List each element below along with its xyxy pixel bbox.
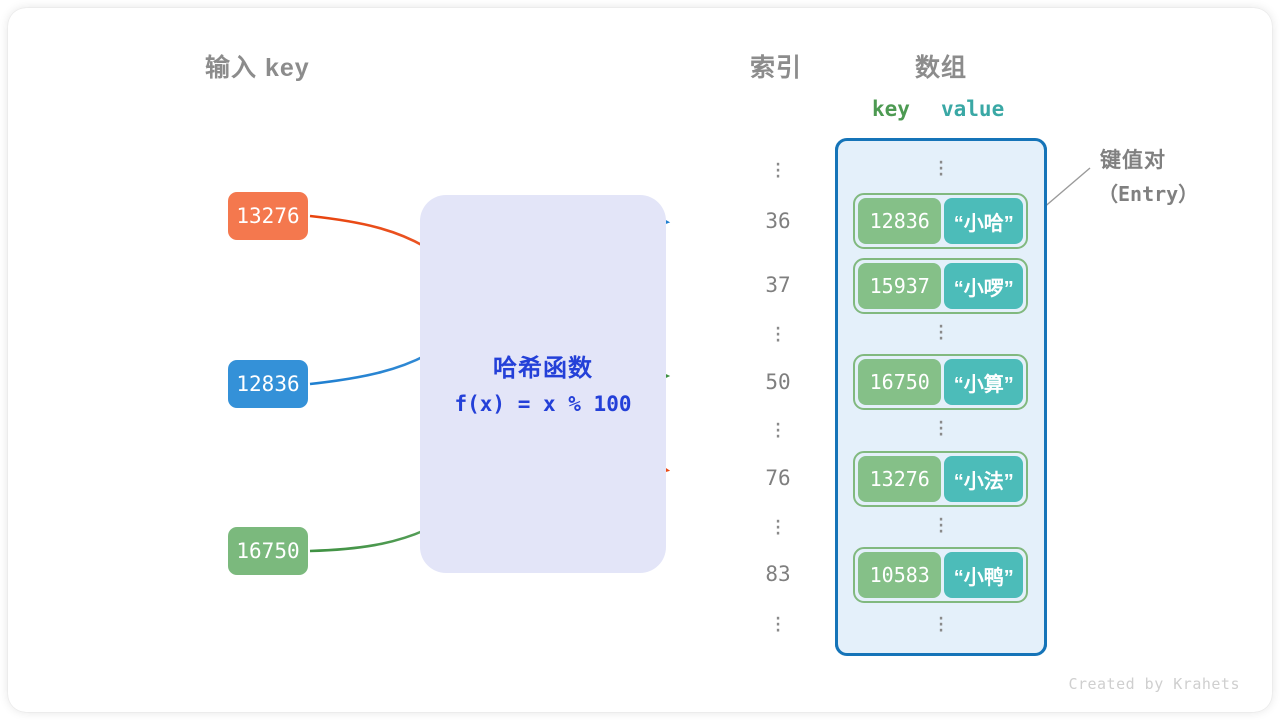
index-label-83: 83 bbox=[748, 562, 808, 586]
entry-row[interactable]: 12836 “小哈” bbox=[853, 193, 1028, 249]
credit-text: Created by Krahets bbox=[1068, 675, 1240, 693]
entry-annotation-label: 键值对 bbox=[1100, 144, 1166, 174]
entry-annotation-sublabel: （Entry） bbox=[1098, 178, 1198, 207]
entry-value: “小哈” bbox=[944, 198, 1023, 244]
entry-key: 15937 bbox=[858, 263, 941, 309]
index-label-36: 36 bbox=[748, 209, 808, 233]
column-sublabel-value: value bbox=[941, 97, 1004, 121]
input-key-value: 12836 bbox=[236, 372, 299, 396]
entry-key: 13276 bbox=[858, 456, 941, 502]
entry-key: 10583 bbox=[858, 552, 941, 598]
input-key-chip-16750[interactable]: 16750 bbox=[228, 527, 308, 575]
index-ellipsis: ··· bbox=[748, 614, 808, 632]
array-ellipsis: ··· bbox=[911, 418, 971, 436]
entry-row[interactable]: 15937 “小啰” bbox=[853, 258, 1028, 314]
index-ellipsis: ··· bbox=[748, 324, 808, 342]
entry-value: “小算” bbox=[944, 359, 1023, 405]
index-label-50: 50 bbox=[748, 370, 808, 394]
entry-row[interactable]: 10583 “小鸭” bbox=[853, 547, 1028, 603]
array-ellipsis: ··· bbox=[911, 614, 971, 632]
index-ellipsis: ··· bbox=[748, 160, 808, 178]
column-sublabel-key: key bbox=[872, 97, 910, 121]
hash-function-title: 哈希函数 bbox=[420, 348, 666, 383]
input-key-value: 13276 bbox=[236, 204, 299, 228]
entry-value: “小啰” bbox=[944, 263, 1023, 309]
entry-value: “小法” bbox=[944, 456, 1023, 502]
entry-key: 16750 bbox=[858, 359, 941, 405]
entry-key: 12836 bbox=[858, 198, 941, 244]
hash-function-formula: f(x) = x % 100 bbox=[420, 392, 666, 416]
array-ellipsis: ··· bbox=[911, 515, 971, 533]
entry-value: “小鸭” bbox=[944, 552, 1023, 598]
entry-row[interactable]: 16750 “小算” bbox=[853, 354, 1028, 410]
hash-function-box bbox=[420, 195, 666, 573]
input-key-chip-13276[interactable]: 13276 bbox=[228, 192, 308, 240]
diagram-canvas: 输入 key 索引 数组 key value 13276 12836 16750… bbox=[0, 0, 1280, 720]
page-title-input-key: 输入 key bbox=[205, 48, 310, 84]
index-ellipsis: ··· bbox=[748, 517, 808, 535]
array-ellipsis: ··· bbox=[911, 322, 971, 340]
column-title-index: 索引 bbox=[750, 48, 802, 84]
column-title-array: 数组 bbox=[915, 48, 967, 84]
array-ellipsis: ··· bbox=[911, 158, 971, 176]
index-label-76: 76 bbox=[748, 466, 808, 490]
index-label-37: 37 bbox=[748, 273, 808, 297]
index-ellipsis: ··· bbox=[748, 420, 808, 438]
entry-row[interactable]: 13276 “小法” bbox=[853, 451, 1028, 507]
input-key-chip-12836[interactable]: 12836 bbox=[228, 360, 308, 408]
input-key-value: 16750 bbox=[236, 539, 299, 563]
